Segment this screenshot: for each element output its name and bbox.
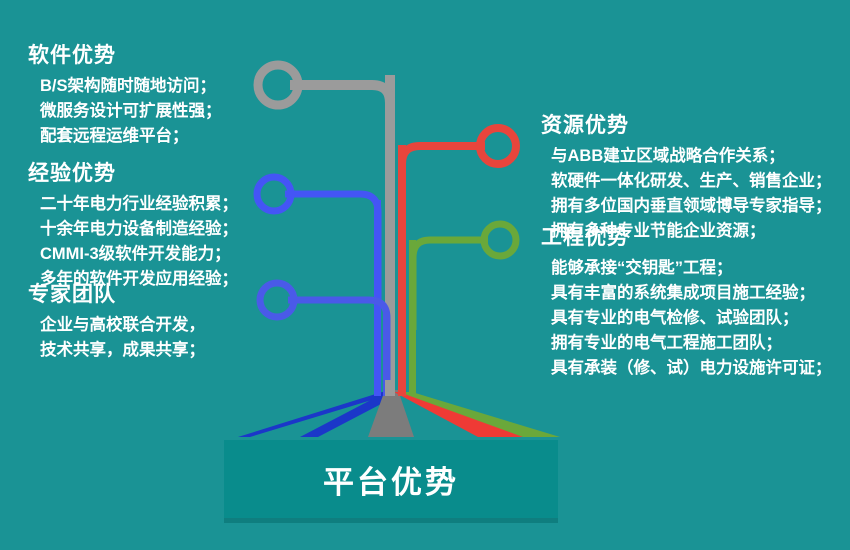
branch-line-experience xyxy=(285,194,378,300)
branch-title-experience: 经验优势 xyxy=(28,160,238,188)
branch-line-text: 十余年电力设备制造经验； xyxy=(40,217,238,242)
branch-node-engineering[interactable] xyxy=(484,224,516,256)
platform-advantage-banner: 平台优势 xyxy=(224,440,558,518)
branch-title-engineering: 工程优势 xyxy=(541,224,832,252)
branch-line-text: 拥有多位国内垂直领域博导专家指导； xyxy=(551,194,832,219)
branch-line-text: B/S架构随时随地访问； xyxy=(40,74,222,99)
branch-lines-engineering: 能够承接“交钥匙”工程； 具有丰富的系统集成项目施工经验； 具有专业的电气检修、… xyxy=(541,256,832,381)
branch-line-text: 软硬件一体化研发、生产、销售企业； xyxy=(551,169,832,194)
infographic-canvas: 软件优势 B/S架构随时随地访问； 微服务设计可扩展性强； 配套远程运维平台； … xyxy=(0,0,850,550)
branch-title-expert-team: 专家团队 xyxy=(28,281,205,309)
branch-node-resource[interactable] xyxy=(480,128,516,164)
branch-line-text: 具有丰富的系统集成项目施工经验； xyxy=(551,281,832,306)
branch-line-expert-team xyxy=(288,300,387,380)
branch-line-software xyxy=(290,85,390,180)
branch-block-experience: 经验优势 二十年电力行业经验积累； 十余年电力设备制造经验； CMMI-3级软件… xyxy=(28,160,238,292)
branch-title-resource: 资源优势 xyxy=(541,112,832,140)
branch-line-text: 二十年电力行业经验积累； xyxy=(40,192,238,217)
branch-block-engineering: 工程优势 能够承接“交钥匙”工程； 具有丰富的系统集成项目施工经验； 具有专业的… xyxy=(541,224,832,381)
branch-line-text: 微服务设计可扩展性强； xyxy=(40,99,222,124)
branch-line-text: 能够承接“交钥匙”工程； xyxy=(551,256,832,281)
branch-line-resource xyxy=(402,146,485,240)
branch-title-software: 软件优势 xyxy=(28,42,222,70)
branch-lines-expert-team: 企业与高校联合开发， 技术共享，成果共享； xyxy=(28,313,205,363)
branch-block-software: 软件优势 B/S架构随时随地访问； 微服务设计可扩展性强； 配套远程运维平台； xyxy=(28,42,222,149)
branch-line-text: 具有专业的电气检修、试验团队； xyxy=(551,306,832,331)
branch-line-text: 与ABB建立区域战略合作关系； xyxy=(551,144,832,169)
branch-line-text: CMMI-3级软件开发能力； xyxy=(40,242,238,267)
branch-block-expert-team: 专家团队 企业与高校联合开发， 技术共享，成果共享； xyxy=(28,281,205,363)
banner-label: 平台优势 xyxy=(323,457,459,502)
branch-line-text: 配套远程运维平台； xyxy=(40,124,222,149)
branch-line-engineering xyxy=(413,240,488,330)
branch-line-text: 具有承装（修、试）电力设施许可证； xyxy=(551,356,832,381)
branch-line-text: 技术共享，成果共享； xyxy=(40,338,205,363)
branch-line-text: 拥有专业的电气工程施工团队； xyxy=(551,331,832,356)
branch-lines-software: B/S架构随时随地访问； 微服务设计可扩展性强； 配套远程运维平台； xyxy=(28,74,222,149)
branch-line-text: 企业与高校联合开发， xyxy=(40,313,205,338)
root-shadow-resource xyxy=(394,392,523,437)
branch-lines-experience: 二十年电力行业经验积累； 十余年电力设备制造经验； CMMI-3级软件开发能力；… xyxy=(28,192,238,292)
